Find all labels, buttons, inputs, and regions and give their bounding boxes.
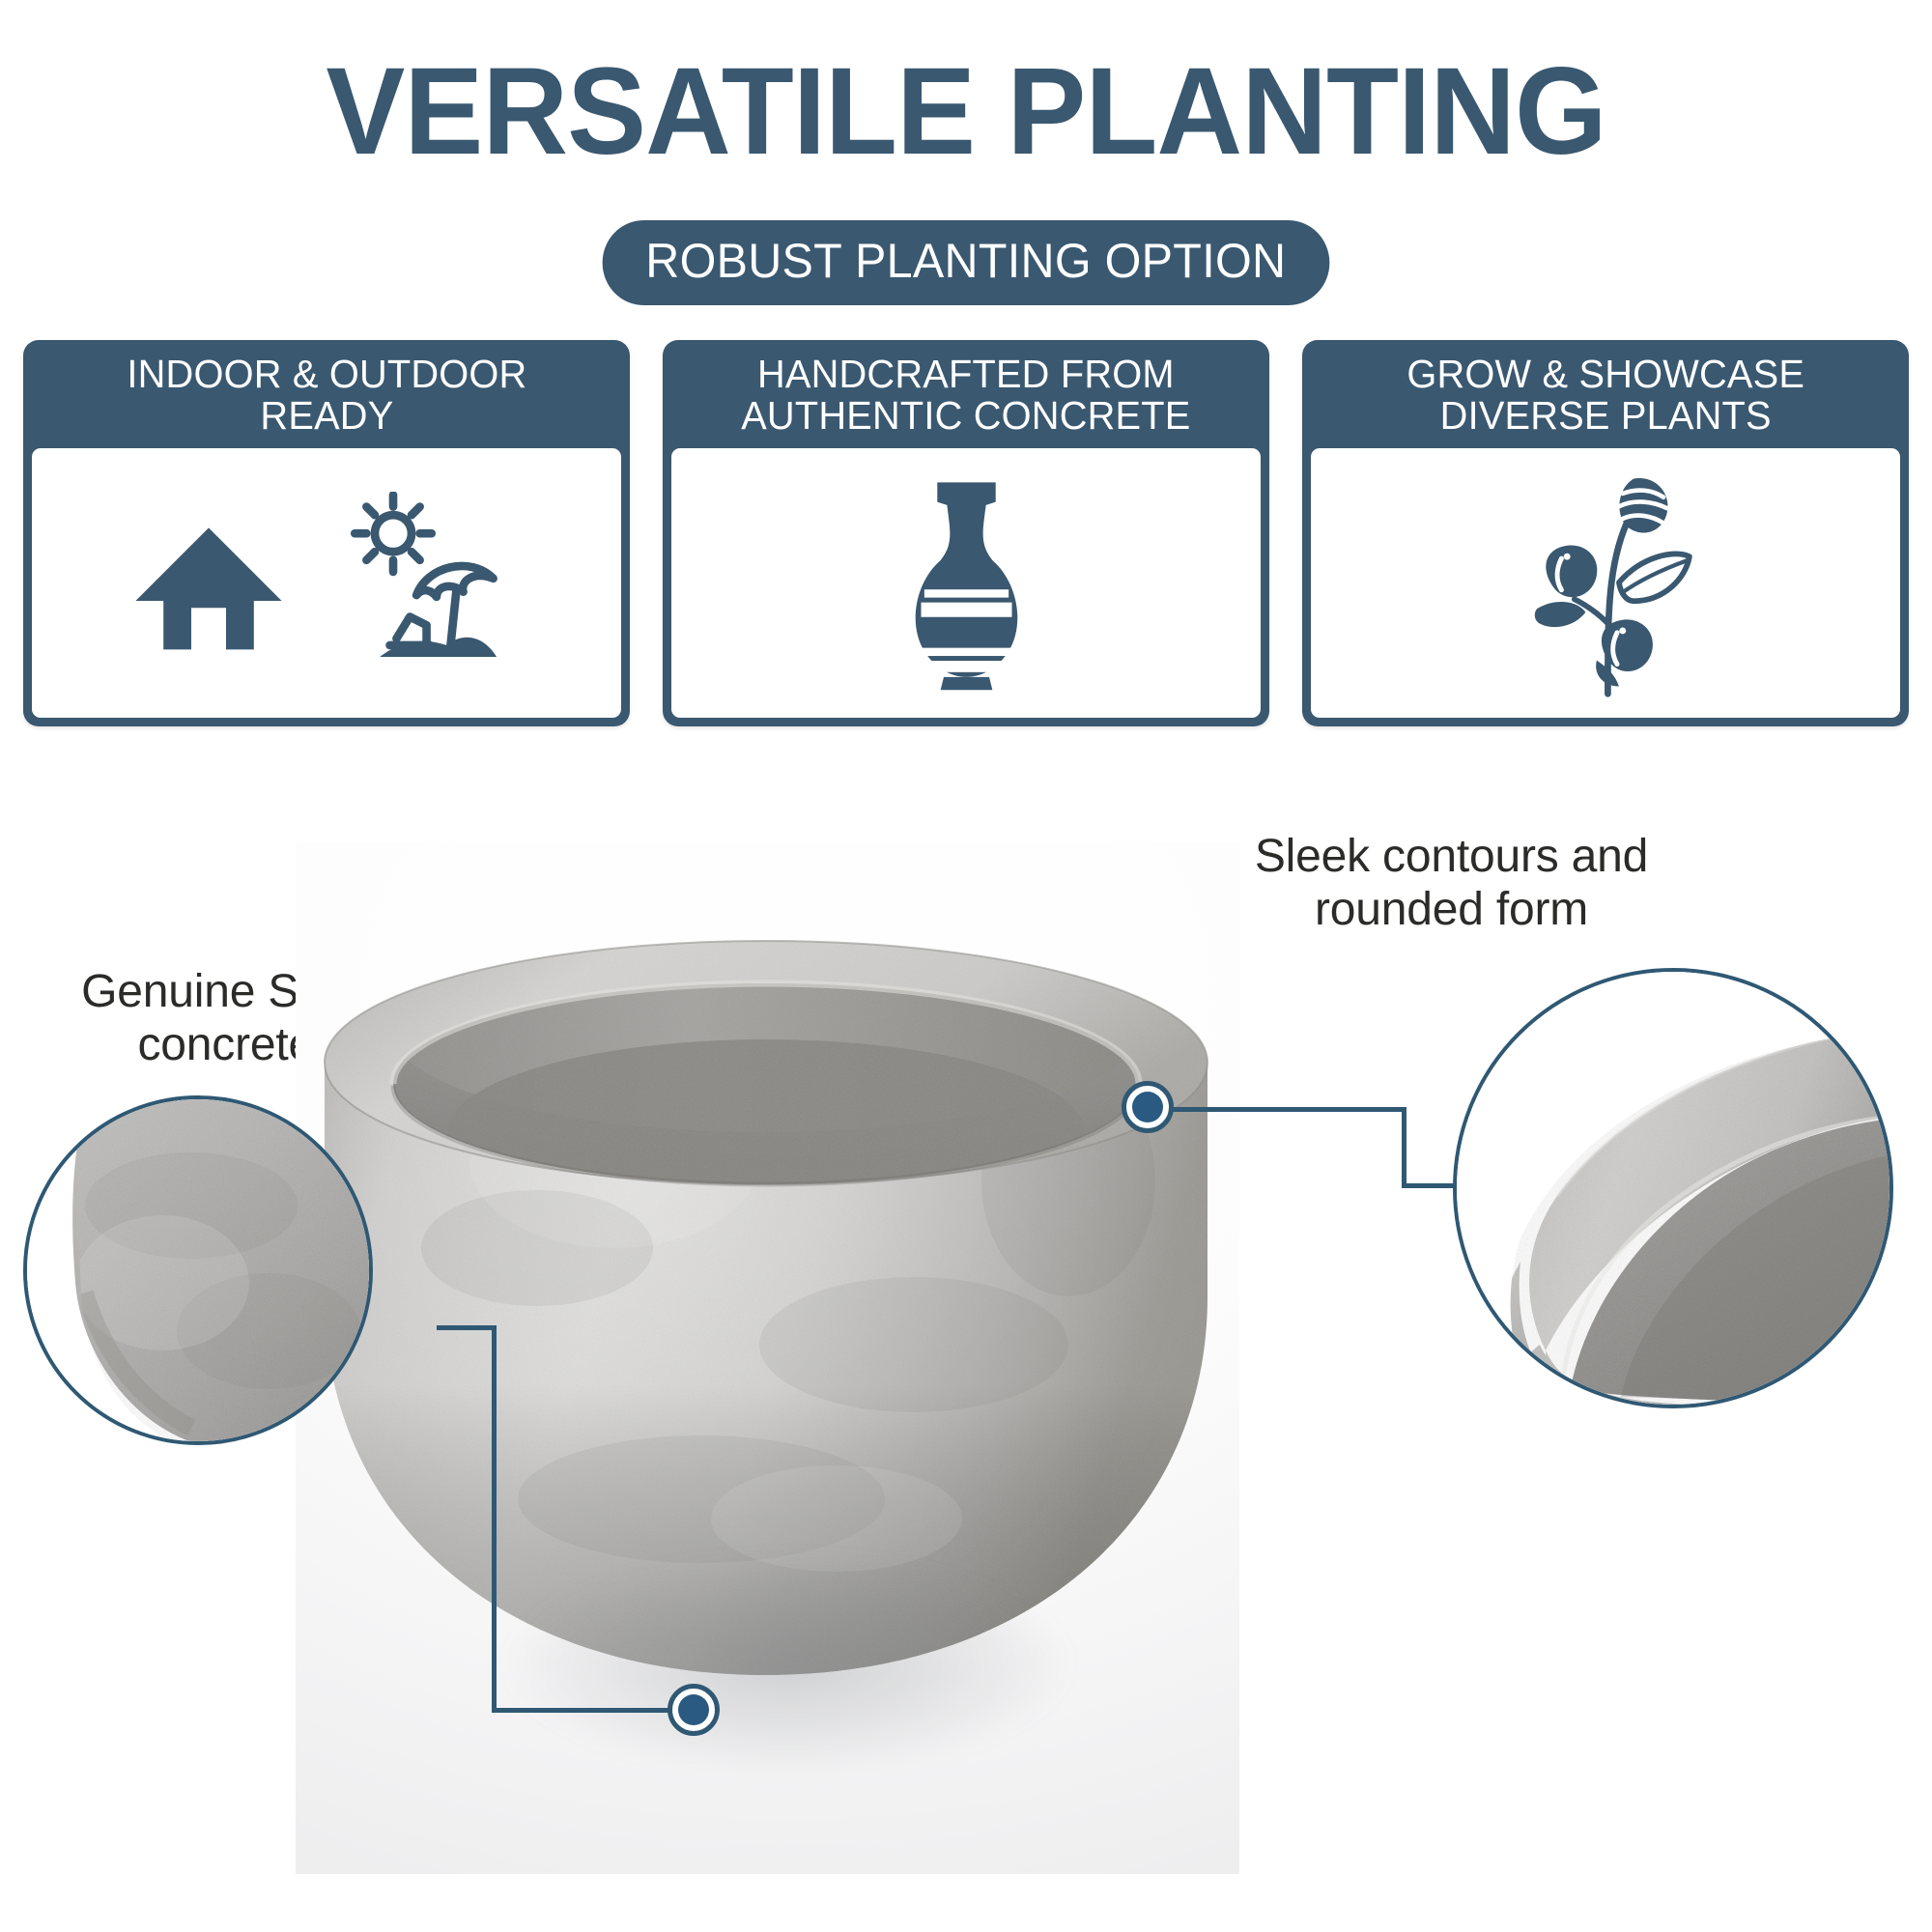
plant-branch-berries-icon (1502, 468, 1710, 699)
feature-card-title-line2: AUTHENTIC CONCRETE (741, 395, 1190, 437)
sun-icon (355, 495, 431, 571)
beach-umbrella-icon (328, 492, 531, 675)
connector-contour-vertical (1402, 1107, 1406, 1188)
feature-card-title-line1: GROW & SHOWCASE (1406, 354, 1804, 395)
house-icon (122, 497, 296, 670)
feature-card-icon-panel (32, 448, 621, 718)
feature-card-indoor-outdoor[interactable]: INDOOR & OUTDOOR READY (23, 340, 630, 726)
feature-card-title: GROW & SHOWCASE DIVERSE PLANTS (1302, 340, 1909, 448)
subtitle-pill: ROBUST PLANTING OPTION (603, 220, 1329, 305)
callout-marker-contour[interactable] (1122, 1081, 1174, 1133)
product-photo (296, 842, 1239, 1874)
detail-circle-contour (1453, 968, 1893, 1408)
subtitle-pill-wrapper: ROBUST PLANTING OPTION (0, 220, 1932, 305)
vase-icon (882, 469, 1051, 696)
detail-circle-texture (23, 1095, 373, 1445)
feature-card-title: HANDCRAFTED FROM AUTHENTIC CONCRETE (663, 340, 1269, 448)
connector-texture-horizontal-1 (437, 1325, 497, 1330)
planter-rim-closeup (1457, 972, 1889, 1405)
feature-card-title-line2: READY (127, 395, 526, 437)
feature-card-row: INDOOR & OUTDOOR READY (23, 340, 1909, 726)
product-drop-shadow (412, 1519, 1165, 1808)
marker-dot (1132, 1092, 1163, 1122)
feature-card-title-line1: HANDCRAFTED FROM (741, 354, 1190, 395)
feature-card-handcrafted-concrete[interactable]: HANDCRAFTED FROM AUTHENTIC CONCRETE (663, 340, 1269, 726)
callout-marker-texture[interactable] (668, 1684, 720, 1736)
marker-dot (678, 1694, 709, 1725)
feature-card-icon-panel (1311, 448, 1900, 718)
feature-card-title-line1: INDOOR & OUTDOOR (127, 354, 526, 395)
infographic-canvas: VERSATILE PLANTING ROBUST PLANTING OPTIO… (0, 0, 1932, 1932)
feature-card-icon-panel (671, 448, 1261, 718)
page-title: VERSATILE PLANTING (39, 50, 1893, 174)
concrete-texture-closeup (27, 1099, 369, 1441)
connector-texture-horizontal-2 (492, 1708, 690, 1713)
feature-card-title: INDOOR & OUTDOOR READY (23, 340, 630, 448)
feature-card-title-line2: DIVERSE PLANTS (1406, 395, 1804, 437)
connector-texture-vertical (492, 1325, 497, 1712)
feature-card-grow-showcase[interactable]: GROW & SHOWCASE DIVERSE PLANTS (1302, 340, 1909, 726)
connector-contour-horizontal-1 (1169, 1107, 1406, 1112)
